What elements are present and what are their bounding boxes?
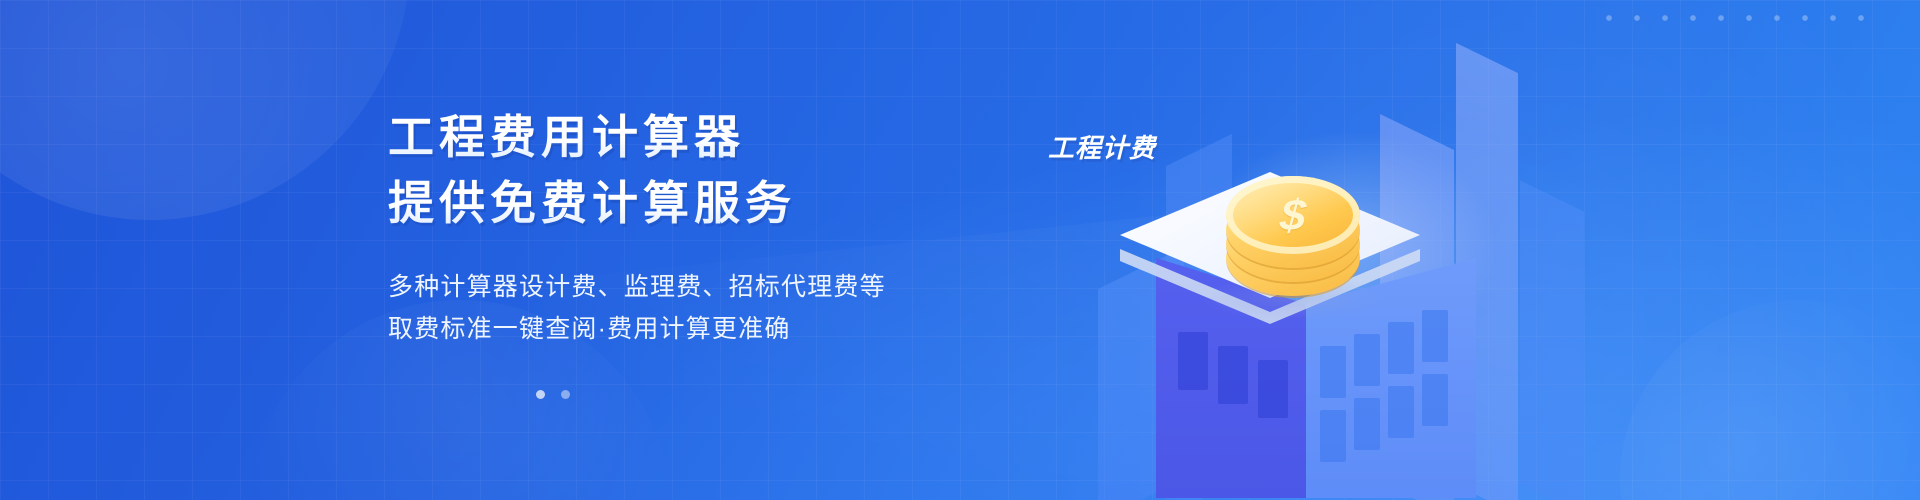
banner-title-line-2: 提供免费计算服务 — [388, 174, 1008, 232]
banner-subtitle-line-1: 多种计算器设计费、监理费、招标代理费等 — [388, 266, 1008, 308]
carousel-dot-1[interactable] — [536, 390, 545, 399]
building-window — [1320, 410, 1346, 462]
background-iso-bar-5 — [1520, 180, 1584, 500]
carousel-dot-2[interactable] — [561, 390, 570, 399]
banner-subtitle-line-2: 取费标准一键查阅·费用计算更准确 — [388, 308, 1008, 350]
banner-illustration: 工程计费 — [1080, 0, 1640, 500]
coin-stack-icon: $ — [1226, 176, 1360, 296]
banner-subtitle: 多种计算器设计费、监理费、招标代理费等 取费标准一键查阅·费用计算更准确 — [388, 266, 1008, 350]
building-window — [1320, 346, 1346, 398]
dollar-sign-icon: $ — [1223, 178, 1362, 252]
building-window — [1422, 310, 1448, 362]
building-window — [1258, 360, 1288, 418]
building-window — [1388, 386, 1414, 438]
building-window — [1218, 346, 1248, 404]
background-circle-bottom-right — [1620, 300, 1920, 500]
background-circle-top-left — [0, 0, 410, 220]
banner-title-line-1: 工程费用计算器 — [388, 108, 1008, 166]
promo-banner: 工程费用计算器 提供免费计算服务 多种计算器设计费、监理费、招标代理费等 取费标… — [0, 0, 1920, 500]
illustration-badge-label: 工程计费 — [1048, 128, 1156, 165]
carousel-indicators[interactable] — [536, 390, 570, 399]
building-window — [1354, 334, 1380, 386]
building-window — [1354, 398, 1380, 450]
building-window — [1178, 332, 1208, 390]
building-window — [1422, 374, 1448, 426]
banner-copy: 工程费用计算器 提供免费计算服务 多种计算器设计费、监理费、招标代理费等 取费标… — [388, 108, 1008, 350]
